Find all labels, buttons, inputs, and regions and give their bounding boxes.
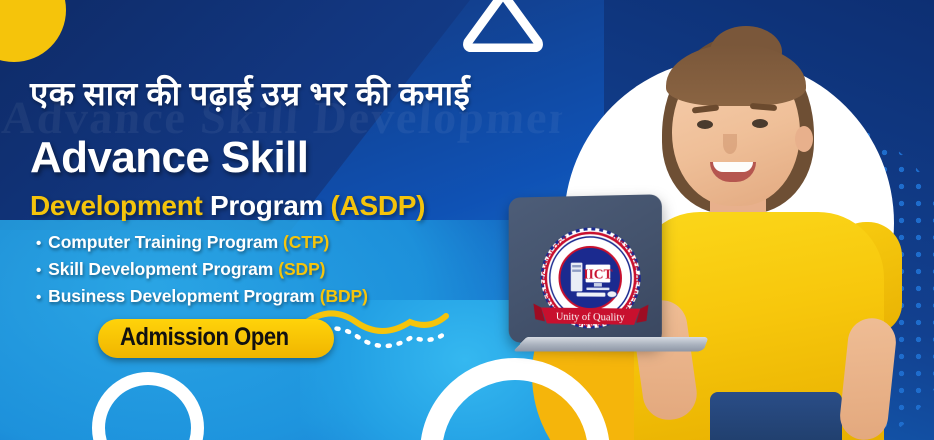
banner-title: Advance Skill (30, 133, 308, 183)
subtitle-program: Program (210, 190, 323, 221)
bullet-dot-icon: • (36, 263, 41, 278)
program-list: • Computer Training Program (CTP) • Skil… (36, 232, 368, 313)
banner-subtitle: Development Program (ASDP) (30, 190, 425, 222)
admission-open-button[interactable]: Admission Open (98, 319, 334, 358)
list-item: • Business Development Program (BDP) (36, 286, 368, 307)
promo-banner: Advance Skill Development Program (0, 0, 934, 440)
model-jeans (710, 392, 842, 440)
subtitle-development: Development (30, 190, 203, 221)
bullet-dot-icon: • (36, 236, 41, 251)
model-eye-left (697, 120, 713, 129)
bullet-dot-icon: • (36, 290, 41, 305)
hindi-tagline: एक साल की पढ़ाई उम्र भर की कमाई (30, 70, 470, 115)
program-abbr: (CTP) (283, 232, 329, 253)
admission-open-label: Admission Open (120, 323, 289, 352)
model-eye-right (752, 119, 768, 128)
program-name: Business Development Program (48, 286, 315, 307)
model-teeth (713, 162, 753, 172)
list-item: • Computer Training Program (CTP) (36, 232, 368, 253)
model-hair-fringe (666, 44, 806, 106)
banner-text-content: एक साल की पढ़ाई उम्र भर की कमाई Advance … (0, 0, 640, 440)
program-name: Skill Development Program (48, 259, 273, 280)
model-nose (723, 134, 737, 154)
program-abbr: (SDP) (278, 259, 325, 280)
program-name: Computer Training Program (48, 232, 278, 253)
list-item: • Skill Development Program (SDP) (36, 259, 368, 280)
model-ear (795, 126, 813, 152)
subtitle-asdp: (ASDP) (331, 190, 426, 221)
program-abbr: (BDP) (320, 286, 368, 307)
